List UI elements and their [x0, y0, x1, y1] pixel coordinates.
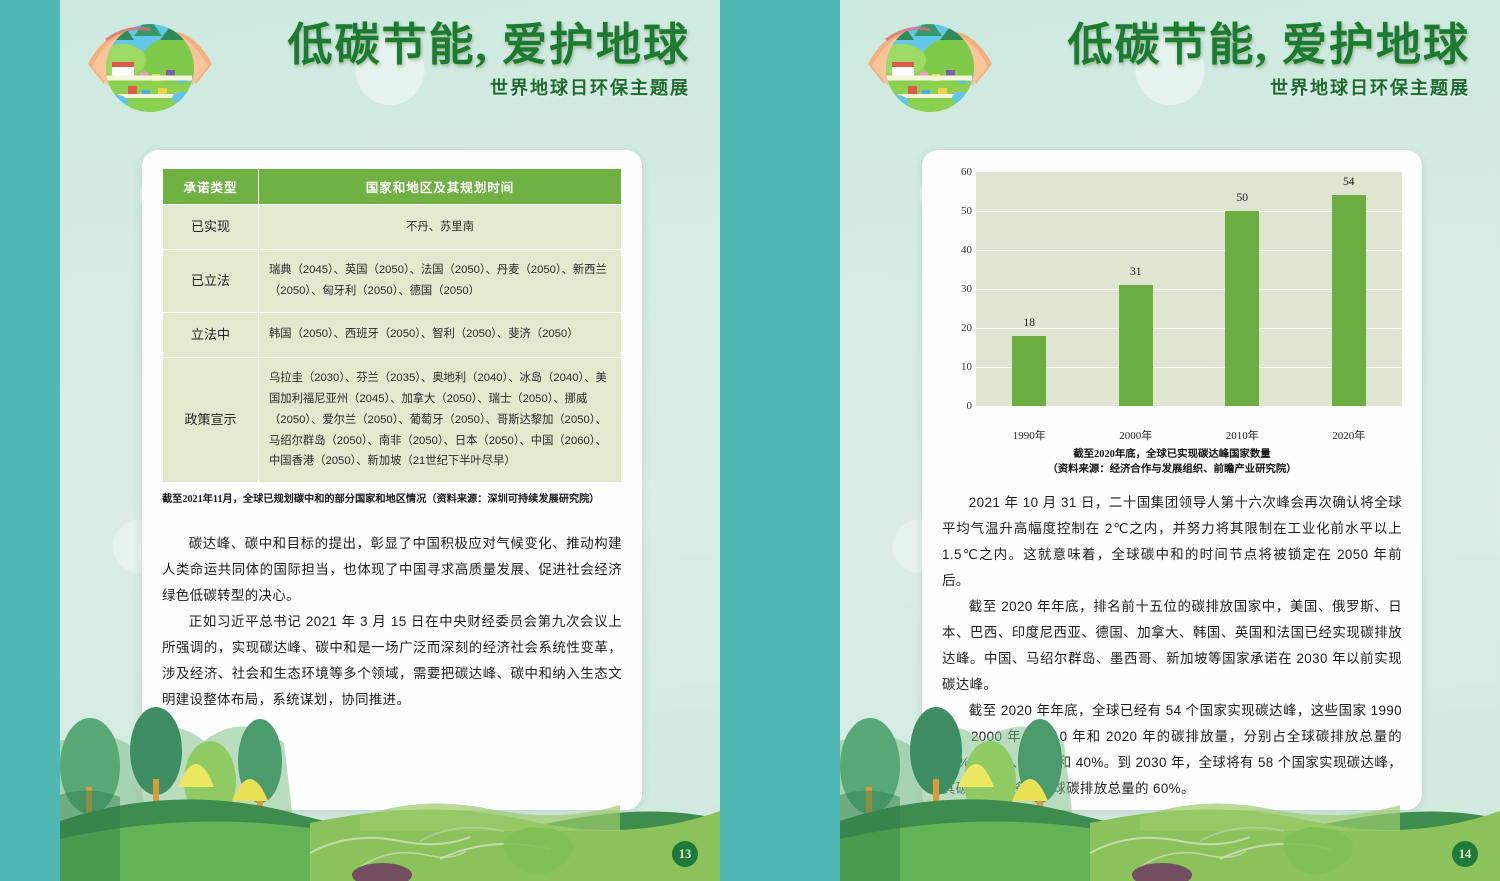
table-row: 政策宣示 乌拉圭（2030）、芬兰（2035）、奥地利（2040）、冰岛（204…	[163, 357, 622, 482]
page-title: 低碳节能, 爱护地球	[1040, 22, 1470, 70]
page-left: 低碳节能, 爱护地球 世界地球日环保主题展 承诺类型 国家和地区及其规划时间 已…	[60, 0, 720, 881]
page-subtitle: 世界地球日环保主题展	[1040, 74, 1470, 100]
bar-slot: 31	[1085, 172, 1187, 406]
cell-commit-type: 已立法	[163, 250, 259, 313]
title-block-left: 低碳节能, 爱护地球 世界地球日环保主题展	[260, 22, 690, 100]
x-tick-label: 1990年	[976, 420, 1083, 443]
x-tick-label: 2010年	[1189, 420, 1296, 443]
chart-plot-area: 60 50 40 30 20 10 0	[942, 172, 1402, 420]
table-row: 已立法 瑞典（2045）、英国（2050）、法国（2050）、丹麦（2050）、…	[163, 250, 622, 313]
earth-in-hands-icon	[82, 6, 218, 142]
carbon-neutrality-table: 承诺类型 国家和地区及其规划时间 已实现 不丹、苏里南 已立法 瑞典（2045）…	[162, 168, 622, 483]
y-tick-label: 60	[961, 166, 972, 178]
bar-2020: 54	[1332, 195, 1366, 406]
y-tick-label: 10	[961, 361, 972, 373]
bar-value-label: 31	[1130, 266, 1142, 278]
table-row: 立法中 韩国（2050）、西班牙（2050）、智利（2050）、斐济（2050）	[163, 312, 622, 357]
chart-bars-container: 18 31 50	[976, 172, 1402, 406]
bar-slot: 50	[1191, 172, 1293, 406]
x-tick-label: 2000年	[1083, 420, 1190, 443]
page-header-right: 低碳节能, 爱护地球 世界地球日环保主题展	[840, 0, 1500, 150]
cell-commit-type: 政策宣示	[163, 357, 259, 482]
bar-2000: 31	[1119, 285, 1153, 406]
chart-x-axis: 1990年 2000年 2010年 2020年	[976, 420, 1402, 443]
bar-value-label: 18	[1023, 317, 1035, 329]
chart-caption: 截至2020年底，全球已实现碳达峰国家数量 （资料来源：经济合作与发展组织、前瞻…	[942, 447, 1402, 477]
content-card-right: 60 50 40 30 20 10 0	[922, 150, 1422, 810]
paragraph: 2021 年 10 月 31 日，二十国集团领导人第十六次峰会再次确认将全球平均…	[942, 490, 1402, 594]
column-header-commit-type: 承诺类型	[163, 169, 259, 205]
chart-y-axis: 60 50 40 30 20 10 0	[942, 172, 976, 406]
paragraph: 截至 2020 年年底，排名前十五位的碳排放国家中，美国、俄罗斯、日本、巴西、印…	[942, 594, 1402, 698]
bar-slot: 18	[978, 172, 1080, 406]
y-tick-label: 20	[961, 322, 972, 334]
paragraph: 正如习近平总书记 2021 年 3 月 15 日在中央财经委员会第九次会议上所强…	[162, 609, 622, 713]
cell-countries: 不丹、苏里南	[259, 205, 622, 250]
x-tick-label: 2020年	[1296, 420, 1403, 443]
content-card-left: 承诺类型 国家和地区及其规划时间 已实现 不丹、苏里南 已立法 瑞典（2045）…	[142, 150, 642, 810]
page-number-badge: 14	[1452, 841, 1478, 867]
two-page-spread: 低碳节能, 爱护地球 世界地球日环保主题展 承诺类型 国家和地区及其规划时间 已…	[0, 0, 1500, 881]
bar-1990: 18	[1012, 336, 1046, 406]
carbon-peak-bar-chart: 60 50 40 30 20 10 0	[942, 172, 1402, 472]
body-text-left: 碳达峰、碳中和目标的提出，彰显了中国积极应对气候变化、推动构建人类命运共同体的国…	[162, 531, 622, 713]
title-block-right: 低碳节能, 爱护地球 世界地球日环保主题展	[1040, 22, 1470, 100]
chart-caption-line-2: （资料来源：经济合作与发展组织、前瞻产业研究院）	[942, 462, 1402, 477]
y-tick-label: 40	[961, 244, 972, 256]
spread-gutter	[720, 0, 780, 881]
paragraph: 截至 2020 年年底，全球已经有 54 个国家实现碳达峰，这些国家 1990 …	[942, 698, 1402, 802]
body-text-right: 2021 年 10 月 31 日，二十国集团领导人第十六次峰会再次确认将全球平均…	[942, 490, 1402, 802]
chart-caption-line-1: 截至2020年底，全球已实现碳达峰国家数量	[942, 447, 1402, 462]
page-number-badge: 13	[672, 841, 698, 867]
cell-countries: 韩国（2050）、西班牙（2050）、智利（2050）、斐济（2050）	[259, 312, 622, 357]
table-caption: 截至2021年11月，全球已规划碳中和的部分国家和地区情况（资料来源：深圳可持续…	[162, 490, 622, 505]
bar-slot: 54	[1298, 172, 1400, 406]
page-title: 低碳节能, 爱护地球	[260, 22, 690, 70]
cell-commit-type: 立法中	[163, 312, 259, 357]
page-header-left: 低碳节能, 爱护地球 世界地球日环保主题展	[60, 0, 720, 150]
page-subtitle: 世界地球日环保主题展	[260, 74, 690, 100]
y-tick-label: 0	[967, 400, 973, 412]
earth-in-hands-icon	[862, 6, 998, 142]
table-row: 已实现 不丹、苏里南	[163, 205, 622, 250]
cell-commit-type: 已实现	[163, 205, 259, 250]
paragraph: 碳达峰、碳中和目标的提出，彰显了中国积极应对气候变化、推动构建人类命运共同体的国…	[162, 531, 622, 609]
page-right: 低碳节能, 爱护地球 世界地球日环保主题展 60 50 40 30 20 10 …	[840, 0, 1500, 881]
bar-value-label: 54	[1343, 176, 1355, 188]
bar-value-label: 50	[1236, 192, 1248, 204]
cell-countries: 乌拉圭（2030）、芬兰（2035）、奥地利（2040）、冰岛（2040）、美国…	[259, 357, 622, 482]
y-tick-label: 50	[961, 205, 972, 217]
table-header-row: 承诺类型 国家和地区及其规划时间	[163, 169, 622, 205]
bar-2010: 50	[1225, 211, 1259, 406]
column-header-countries: 国家和地区及其规划时间	[259, 169, 622, 205]
cell-countries: 瑞典（2045）、英国（2050）、法国（2050）、丹麦（2050）、新西兰（…	[259, 250, 622, 313]
y-tick-label: 30	[961, 283, 972, 295]
